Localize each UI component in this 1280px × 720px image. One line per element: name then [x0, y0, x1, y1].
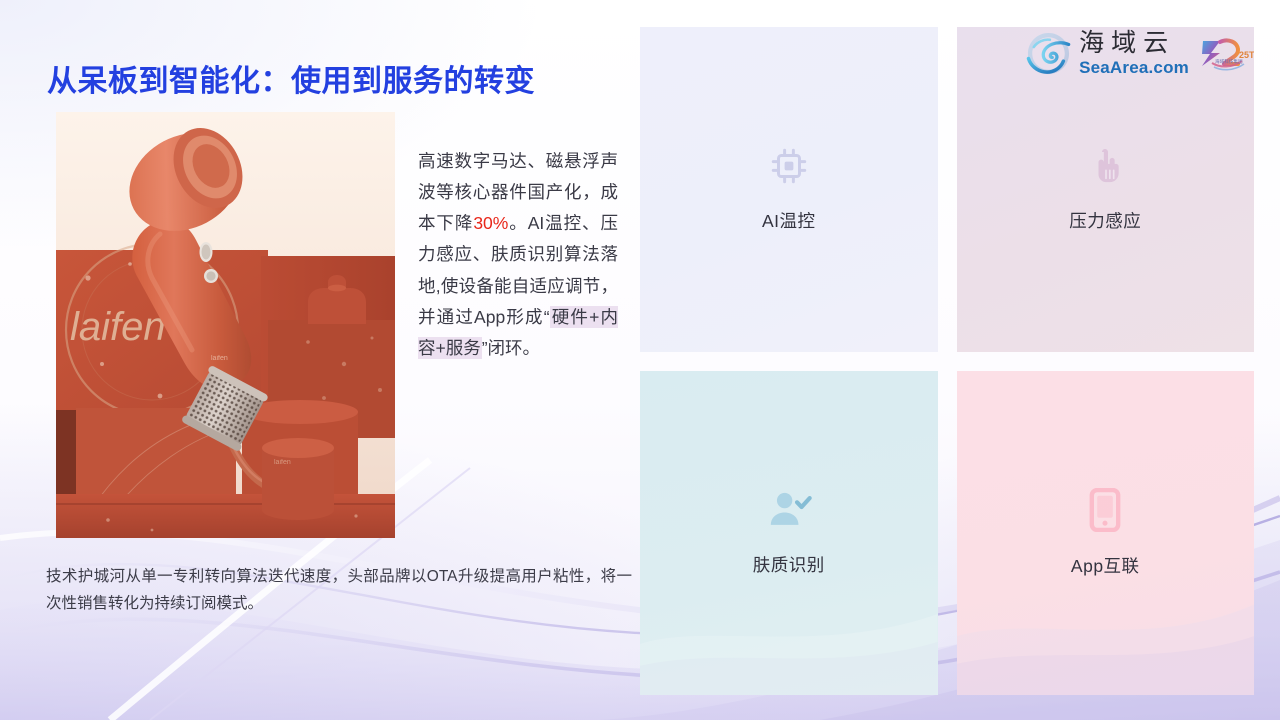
- brand-logo[interactable]: 海域云 SeaArea.com: [1025, 26, 1254, 80]
- logo-name-en: SeaArea.com: [1079, 59, 1189, 76]
- hair-dryer-illustration: laifen: [56, 112, 395, 538]
- feature-card-label: 肤质识别: [753, 552, 825, 577]
- product-photo: laifen: [56, 112, 395, 538]
- svg-text:laifen: laifen: [211, 355, 228, 362]
- svg-text:laifen: laifen: [274, 459, 291, 466]
- pointing-hand-icon: [1085, 145, 1125, 192]
- feature-card-grid: AI温控 压力感应: [640, 27, 1254, 695]
- feature-card-ai-temperature[interactable]: AI温控: [640, 27, 938, 352]
- cost-reduction-value: 30%: [473, 213, 508, 233]
- feature-card-label: App互联: [1071, 553, 1140, 578]
- footer-caption: 技术护城河从单一专利转向算法迭代速度，头部品牌以OTA升级提高用户粘性，将一次性…: [46, 564, 632, 617]
- card-wave-decoration: [957, 517, 1255, 695]
- body-text-part3: ”闭环。: [482, 338, 540, 358]
- feature-card-skin-recognition[interactable]: 肤质识别: [640, 371, 938, 696]
- slide-title: 从呆板到智能化：使用到服务的转变: [47, 56, 535, 100]
- svg-text:laifen: laifen: [70, 305, 166, 349]
- feature-card-label: AI温控: [762, 208, 816, 233]
- mobile-phone-icon: [1088, 488, 1122, 537]
- anniversary-badge-sub: 海域科技集团: [1215, 58, 1243, 65]
- slide-canvas: 从呆板到智能化：使用到服务的转变: [0, 0, 1280, 720]
- cpu-chip-icon: [768, 145, 810, 192]
- anniversary-badge-icon: 25TH 海域科技集团: [1198, 33, 1254, 73]
- feature-card-app-connectivity[interactable]: App互联: [957, 371, 1255, 696]
- sea-wave-swirl-icon: [1025, 30, 1072, 77]
- logo-name-cn: 海域云: [1079, 31, 1189, 56]
- user-check-icon: [766, 489, 812, 536]
- feature-card-label: 压力感应: [1069, 208, 1141, 233]
- body-paragraph: 高速数字马达、磁悬浮声波等核心器件国产化，成本下降30%。AI温控、压力感应、肤…: [418, 146, 618, 364]
- card-wave-decoration: [640, 517, 938, 695]
